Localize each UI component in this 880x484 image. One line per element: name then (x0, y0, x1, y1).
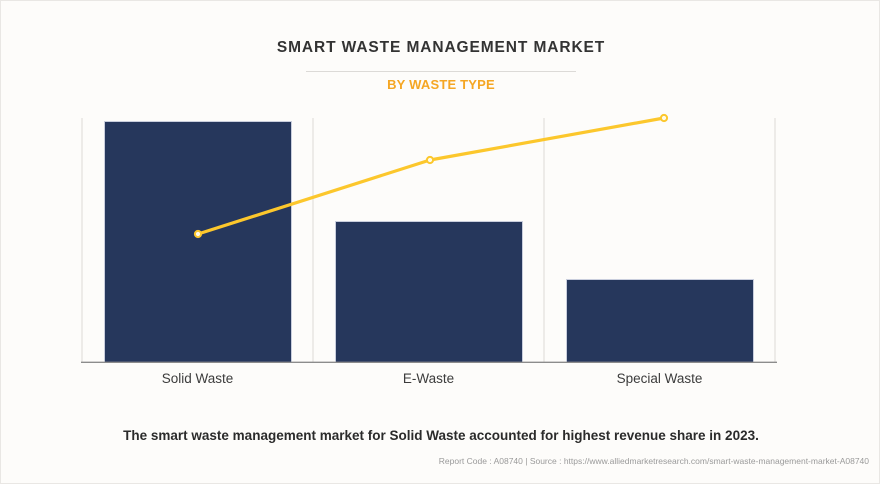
line-marker-e-waste[interactable] (427, 157, 433, 163)
chart-subtitle: BY WASTE TYPE (1, 77, 880, 92)
bar-special-waste[interactable] (567, 280, 754, 363)
bar-solid-waste[interactable] (105, 122, 292, 363)
chart-caption: The smart waste management market for So… (1, 428, 880, 443)
plot-area (81, 113, 777, 363)
page-title: SMART WASTE MANAGEMENT MARKET (1, 39, 880, 57)
chart-canvas: SMART WASTE MANAGEMENT MARKET BY WASTE T… (0, 0, 880, 484)
x-axis-label-e-waste: E-Waste (313, 371, 544, 386)
x-axis-label-special-waste: Special Waste (544, 371, 775, 386)
line-marker-special-waste[interactable] (661, 115, 667, 121)
bar-e-waste[interactable] (336, 222, 523, 363)
title-divider (306, 71, 576, 72)
chart-svg (81, 113, 777, 363)
x-axis (81, 362, 777, 363)
x-axis-label-solid-waste: Solid Waste (82, 371, 313, 386)
line-marker-solid-waste[interactable] (195, 231, 201, 237)
report-source-line: Report Code : A08740 | Source : https://… (1, 456, 869, 466)
